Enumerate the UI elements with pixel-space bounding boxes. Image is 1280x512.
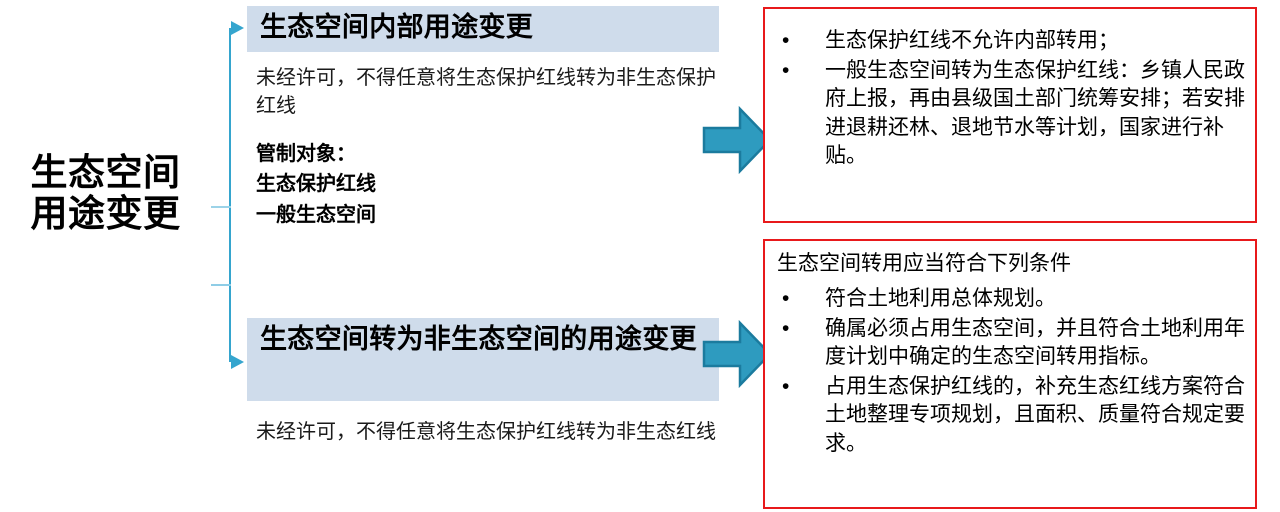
control-object-item-2: 一般生态空间 (256, 200, 656, 230)
branch-2-bullet-list: • 符合土地利用总体规划。 • 确属必须占用生态空间，并且符合土地利用年度计划中… (777, 285, 1247, 459)
control-object-item-1: 生态保护红线 (256, 169, 656, 199)
branch-2-header: 生态空间转为非生态空间的用途变更 (247, 318, 719, 401)
branch-2-body: 未经许可，不得任意将生态保护红线转为非生态红线 (256, 418, 738, 446)
branch-1-panel: • 生态保护红线不允许内部转用； • 一般生态空间转为生态保护红线：乡镇人民政府… (763, 7, 1257, 223)
list-item-text: 确属必须占用生态空间，并且符合土地利用年度计划中确定的生态空间转用指标。 (825, 317, 1245, 369)
connector-stub-lower (211, 284, 231, 286)
list-item-text: 符合土地利用总体规划。 (825, 287, 1056, 310)
branch-2-panel: 生态空间转用应当符合下列条件 • 符合土地利用总体规划。 • 确属必须占用生态空… (763, 239, 1257, 509)
list-item: • 确属必须占用生态空间，并且符合土地利用年度计划中确定的生态空间转用指标。 (777, 315, 1247, 372)
bullet-glyph: • (782, 285, 789, 314)
list-item-text: 生态保护红线不允许内部转用； (825, 29, 1119, 52)
branch-1-body: 未经许可，不得任意将生态保护红线转为非生态保护红线 (256, 64, 724, 121)
control-object-label: 管制对象： (256, 139, 656, 169)
connector-stub-upper (211, 206, 231, 208)
list-item: • 生态保护红线不允许内部转用； (777, 27, 1247, 56)
root-title-line-1: 生态空间 (8, 152, 203, 193)
list-item: • 一般生态空间转为生态保护红线：乡镇人民政府上报，再由县级国土部门统筹安排；若… (777, 57, 1247, 171)
bullet-glyph: • (782, 373, 789, 402)
branch-1-bullet-list: • 生态保护红线不允许内部转用； • 一般生态空间转为生态保护红线：乡镇人民政府… (777, 27, 1247, 172)
diagram-canvas: 生态空间 用途变更 生态空间内部用途变更 未经许可，不得任意将生态保护红线转为非… (0, 0, 1280, 512)
connector-arrowhead-top-icon (231, 21, 244, 35)
branch-1-header: 生态空间内部用途变更 (247, 6, 719, 52)
list-item: • 符合土地利用总体规划。 (777, 285, 1247, 314)
list-item-text: 占用生态保护红线的，补充生态红线方案符合土地整理专项规划，且面积、质量符合规定要… (825, 375, 1245, 455)
connector-spine (229, 28, 231, 362)
list-item-text: 一般生态空间转为生态保护红线：乡镇人民政府上报，再由县级国土部门统筹安排；若安排… (825, 59, 1245, 168)
list-item: • 占用生态保护红线的，补充生态红线方案符合土地整理专项规划，且面积、质量符合规… (777, 373, 1247, 459)
connector-arrowhead-bottom-icon (231, 355, 244, 369)
bullet-glyph: • (782, 315, 789, 344)
bullet-glyph: • (782, 57, 789, 86)
branch-2-panel-intro: 生态空间转用应当符合下列条件 (777, 250, 1245, 279)
root-title-line-2: 用途变更 (8, 193, 203, 234)
root-title: 生态空间 用途变更 (8, 152, 203, 235)
branch-1-control-block: 管制对象： 生态保护红线 一般生态空间 (256, 139, 656, 230)
bullet-glyph: • (782, 27, 789, 56)
